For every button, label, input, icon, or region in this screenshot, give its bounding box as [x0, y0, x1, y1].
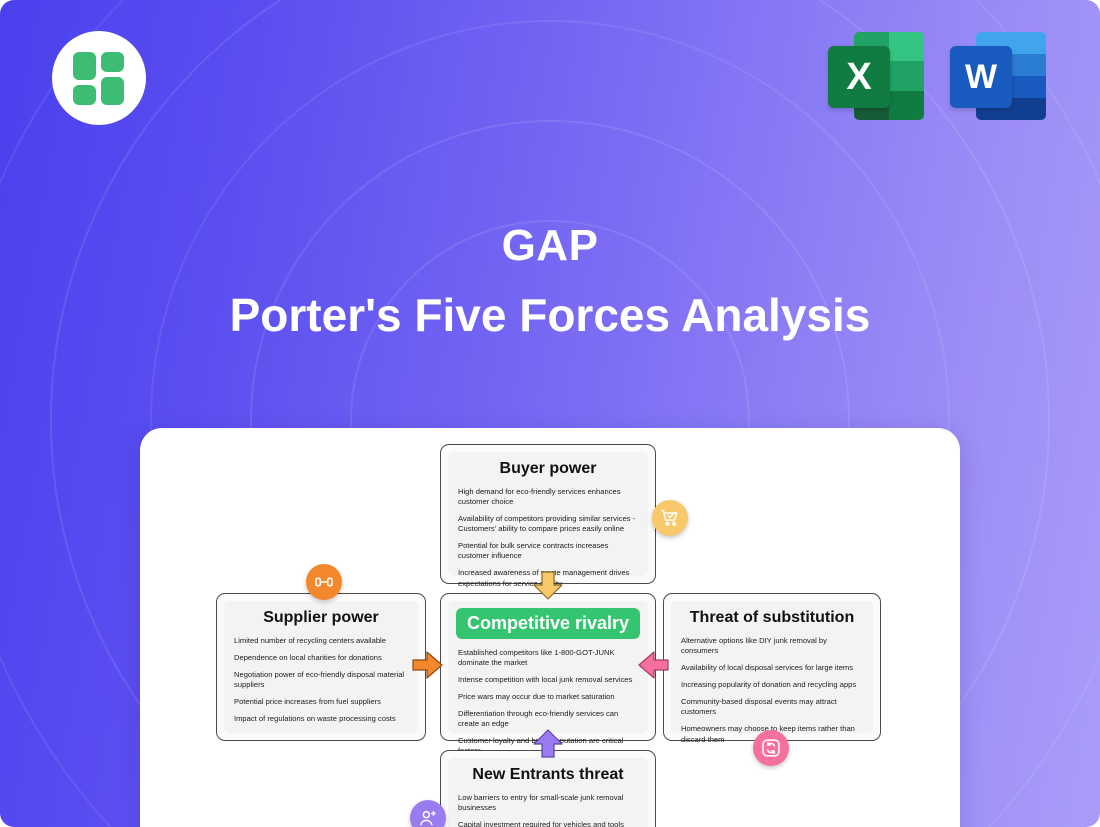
- force-point: Price wars may occur due to market satur…: [458, 692, 638, 702]
- force-box-competitive-rivalry[interactable]: Competitive rivalry Established competit…: [440, 593, 656, 741]
- force-points-supplier-power: Limited number of recycling centers avai…: [234, 636, 408, 724]
- force-point: Negotiation power of eco-friendly dispos…: [234, 670, 408, 690]
- force-title-threat-of-substitution: Threat of substitution: [681, 609, 863, 627]
- force-point: Intense competition with local junk remo…: [458, 675, 638, 685]
- force-title-new-entrants-threat: New Entrants threat: [458, 766, 638, 784]
- porters-five-forces-diagram: Buyer power High demand for eco-friendly…: [140, 428, 960, 827]
- page-title: Porter's Five Forces Analysis: [0, 290, 1100, 341]
- force-point: Availability of competitors providing si…: [458, 514, 638, 534]
- company-name: GAP: [0, 222, 1100, 270]
- force-box-inner: New Entrants threat Low barriers to entr…: [448, 758, 648, 827]
- refresh-sync-icon[interactable]: [753, 730, 789, 766]
- shopping-cart-icon[interactable]: [652, 500, 688, 536]
- arrow-substitute-to-rivalry: [637, 650, 669, 680]
- export-icons-group: X W: [826, 26, 1048, 126]
- force-box-inner: Threat of substitution Alternative optio…: [671, 601, 873, 733]
- force-title-buyer-power: Buyer power: [458, 460, 638, 478]
- force-point: Impact of regulations on waste processin…: [234, 714, 408, 724]
- force-title-supplier-power: Supplier power: [234, 609, 408, 627]
- force-box-inner: Buyer power High demand for eco-friendly…: [448, 452, 648, 576]
- app-logo[interactable]: [52, 31, 146, 125]
- force-point: Community-based disposal events may attr…: [681, 697, 863, 717]
- force-point: Low barriers to entry for small-scale ju…: [458, 793, 638, 813]
- force-point: Established competitors like 1-800-GOT-J…: [458, 648, 638, 668]
- word-icon-letter: W: [950, 46, 1012, 108]
- slide-canvas: X W GAP Porter's Five Forces Analysis Bu…: [0, 0, 1100, 827]
- link-dumbbell-icon[interactable]: [306, 564, 342, 600]
- force-points-threat-of-substitution: Alternative options like DIY junk remova…: [681, 636, 863, 744]
- grid-logo-icon: [73, 52, 125, 104]
- force-point: Alternative options like DIY junk remova…: [681, 636, 863, 656]
- diagram-card: Buyer power High demand for eco-friendly…: [140, 428, 960, 827]
- force-point: Availability of local disposal services …: [681, 663, 863, 673]
- force-points-new-entrants-threat: Low barriers to entry for small-scale ju…: [458, 793, 638, 827]
- force-box-buyer-power[interactable]: Buyer power High demand for eco-friendly…: [440, 444, 656, 584]
- force-title-competitive-rivalry: Competitive rivalry: [456, 608, 640, 639]
- force-box-new-entrants-threat[interactable]: New Entrants threat Low barriers to entr…: [440, 750, 656, 827]
- force-box-supplier-power[interactable]: Supplier power Limited number of recycli…: [216, 593, 426, 741]
- arrow-supplier-to-rivalry: [412, 650, 444, 680]
- force-point: Differentiation through eco-friendly ser…: [458, 709, 638, 729]
- arrow-newentrant-to-rivalry: [532, 728, 564, 758]
- excel-icon[interactable]: X: [826, 26, 926, 126]
- force-point: Potential price increases from fuel supp…: [234, 697, 408, 707]
- force-point: Increasing popularity of donation and re…: [681, 680, 863, 690]
- word-icon[interactable]: W: [948, 26, 1048, 126]
- force-point: Potential for bulk service contracts inc…: [458, 541, 638, 561]
- excel-icon-letter: X: [828, 46, 890, 108]
- force-box-inner: Competitive rivalry Established competit…: [448, 601, 648, 733]
- force-box-threat-of-substitution[interactable]: Threat of substitution Alternative optio…: [663, 593, 881, 741]
- arrow-buyer-to-rivalry: [532, 571, 564, 601]
- force-point: Capital investment required for vehicles…: [458, 820, 638, 827]
- force-point: Dependence on local charities for donati…: [234, 653, 408, 663]
- force-point: High demand for eco-friendly services en…: [458, 487, 638, 507]
- title-block: GAP Porter's Five Forces Analysis: [0, 222, 1100, 341]
- force-box-inner: Supplier power Limited number of recycli…: [224, 601, 418, 733]
- force-point: Limited number of recycling centers avai…: [234, 636, 408, 646]
